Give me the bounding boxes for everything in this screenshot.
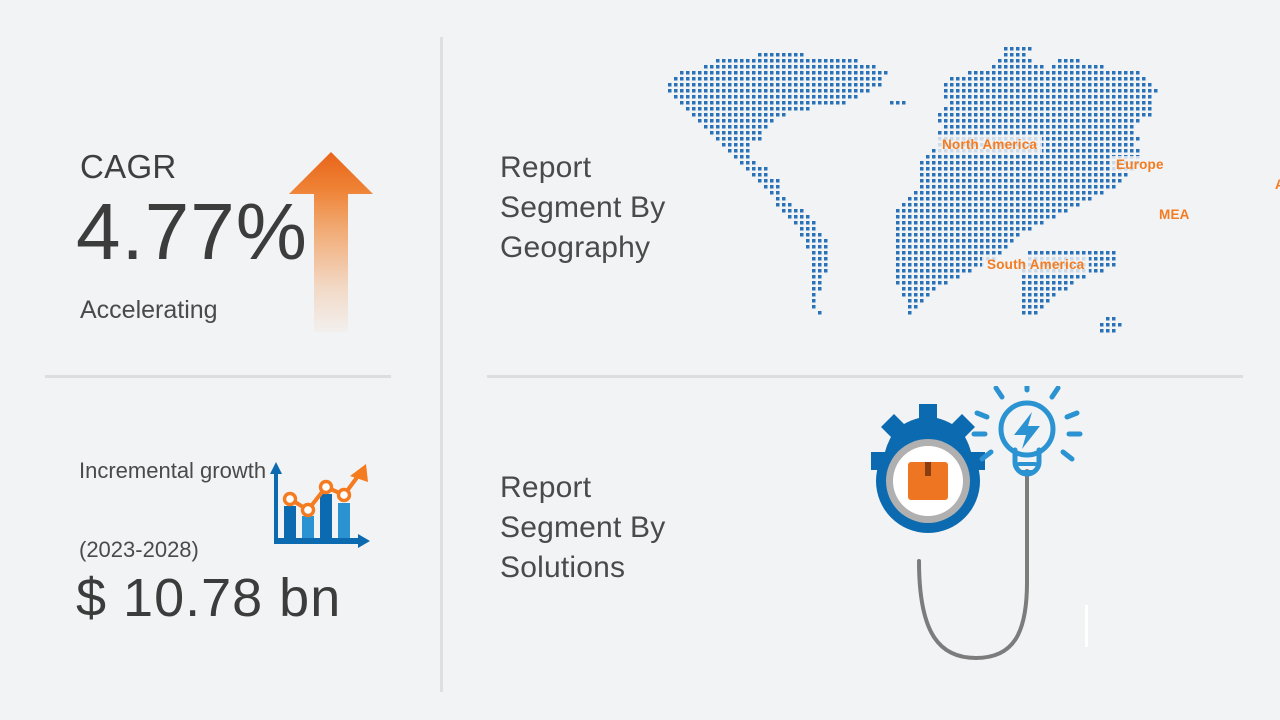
cagr-panel: CAGR 4.77% Accelerating <box>0 0 440 376</box>
world-map-dots <box>654 45 1224 345</box>
lightning-bolt-icon <box>1014 412 1040 449</box>
infographic-slide: CAGR 4.77% Accelerating Incremental grow… <box>0 0 1280 720</box>
geography-panel: Report Segment By Geography North Americ… <box>441 0 1280 376</box>
cagr-label: CAGR <box>80 148 177 186</box>
map-label-europe: Europe <box>1111 156 1169 173</box>
cagr-value: 4.77% <box>76 192 308 272</box>
map-label-north-america: North America <box>937 136 1042 153</box>
dotted-world-map: North AmericaEuropeAPACMEASouth America <box>654 45 1224 345</box>
incremental-growth-label: Incremental growth <box>79 456 269 486</box>
up-arrow-gradient-icon <box>288 150 374 332</box>
solutions-panel: Report Segment By Solutions <box>441 376 1280 720</box>
gear-shape <box>871 404 985 533</box>
map-label-south-america: South America <box>982 256 1089 273</box>
solutions-heading: Report Segment By Solutions <box>500 468 710 588</box>
incremental-growth-value: $ 10.78 bn <box>76 566 341 631</box>
gear-box-lightbulb-icon <box>841 386 1101 666</box>
cagr-subtitle: Accelerating <box>80 296 218 325</box>
incremental-growth-panel: Incremental growth (2023-2028) $ 10.78 b… <box>0 376 440 720</box>
map-label-apac: APAC <box>1270 176 1280 193</box>
incremental-growth-period: (2023-2028) <box>79 537 199 563</box>
map-label-mea: MEA <box>1154 206 1195 223</box>
bar-line-growth-chart-icon <box>262 456 374 556</box>
